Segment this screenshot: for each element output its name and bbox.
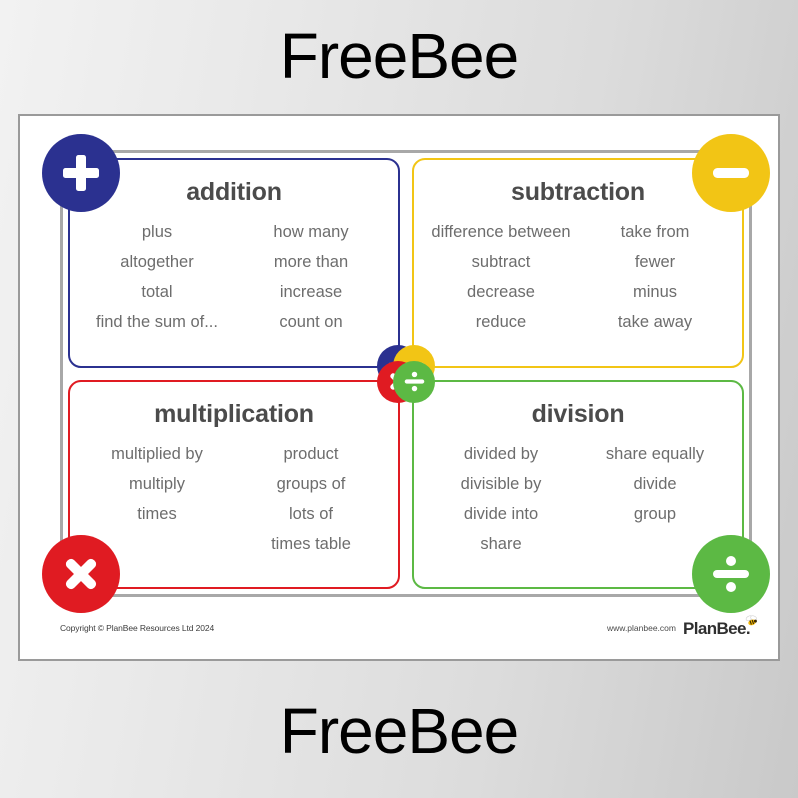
word-item: share equally [606, 439, 704, 469]
planbee-logo: PlanBee. [683, 620, 750, 637]
word-item: find the sum of... [96, 307, 218, 337]
copyright-text: Copyright © PlanBee Resources Ltd 2024 [60, 623, 214, 633]
top-banner: FreeBee [0, 0, 798, 112]
website-url[interactable]: www.planbee.com [607, 623, 676, 633]
poster-footer: Copyright © PlanBee Resources Ltd 2024 w… [60, 615, 750, 641]
word-item: times table [271, 529, 351, 559]
card-division[interactable]: division divided by divisible by divide … [412, 380, 744, 590]
bottom-banner: FreeBee [0, 663, 798, 798]
bee-icon [745, 613, 759, 630]
word-item: minus [633, 277, 677, 307]
word-item: count on [279, 307, 342, 337]
word-item: multiplied by [111, 439, 203, 469]
word-column-right: take from fewer minus take away [578, 217, 732, 337]
minus-icon [692, 134, 770, 212]
poster-page-wrapper: addition plus altogether total find the … [0, 112, 798, 663]
top-banner-label: FreeBee [280, 24, 518, 88]
word-item: reduce [476, 307, 526, 337]
word-item: divided by [464, 439, 538, 469]
card-subtraction[interactable]: subtraction difference between subtract … [412, 158, 744, 368]
card-multiplication[interactable]: multiplication multiplied by multiply ti… [68, 380, 400, 590]
card-title-addition: addition [70, 178, 398, 207]
word-list-multiplication: multiplied by multiply times product gro… [70, 431, 398, 588]
word-item: product [283, 439, 338, 469]
word-column-left: multiplied by multiply times [80, 439, 234, 559]
word-list-subtraction: difference between subtract decrease red… [414, 209, 742, 366]
word-list-addition: plus altogether total find the sum of...… [70, 209, 398, 366]
divide-icon [692, 535, 770, 613]
word-item: plus [142, 217, 172, 247]
word-item: fewer [635, 247, 675, 277]
times-icon [42, 535, 120, 613]
word-item: how many [273, 217, 348, 247]
word-item: divide [633, 469, 676, 499]
word-item: groups of [277, 469, 346, 499]
bottom-banner-label: FreeBee [280, 699, 518, 763]
card-addition[interactable]: addition plus altogether total find the … [68, 158, 400, 368]
word-item: increase [280, 277, 342, 307]
word-column-left: plus altogether total find the sum of... [80, 217, 234, 337]
word-item: difference between [431, 217, 570, 247]
word-item: multiply [129, 469, 185, 499]
word-column-left: difference between subtract decrease red… [424, 217, 578, 337]
poster-page: addition plus altogether total find the … [18, 114, 780, 661]
card-title-division: division [414, 400, 742, 429]
word-item: divisible by [461, 469, 542, 499]
word-column-left: divided by divisible by divide into shar… [424, 439, 578, 559]
word-item: divide into [464, 499, 538, 529]
word-item: lots of [289, 499, 333, 529]
word-item: take from [621, 217, 690, 247]
word-item: times [137, 499, 176, 529]
operations-grid: addition plus altogether total find the … [68, 158, 744, 589]
word-item: subtract [472, 247, 531, 277]
word-item: share [480, 529, 521, 559]
word-item: altogether [120, 247, 193, 277]
word-item: group [634, 499, 676, 529]
word-column-right: how many more than increase count on [234, 217, 388, 337]
card-title-multiplication: multiplication [70, 400, 398, 429]
word-column-right: product groups of lots of times table [234, 439, 388, 559]
word-item: more than [274, 247, 348, 277]
word-item: take away [618, 307, 692, 337]
divide-icon-small [393, 361, 435, 403]
word-item: total [141, 277, 172, 307]
plus-icon [42, 134, 120, 212]
word-item: decrease [467, 277, 535, 307]
planbee-logo-text: PlanBee. [683, 619, 750, 638]
brand-block: www.planbee.com PlanBee. [607, 620, 750, 637]
